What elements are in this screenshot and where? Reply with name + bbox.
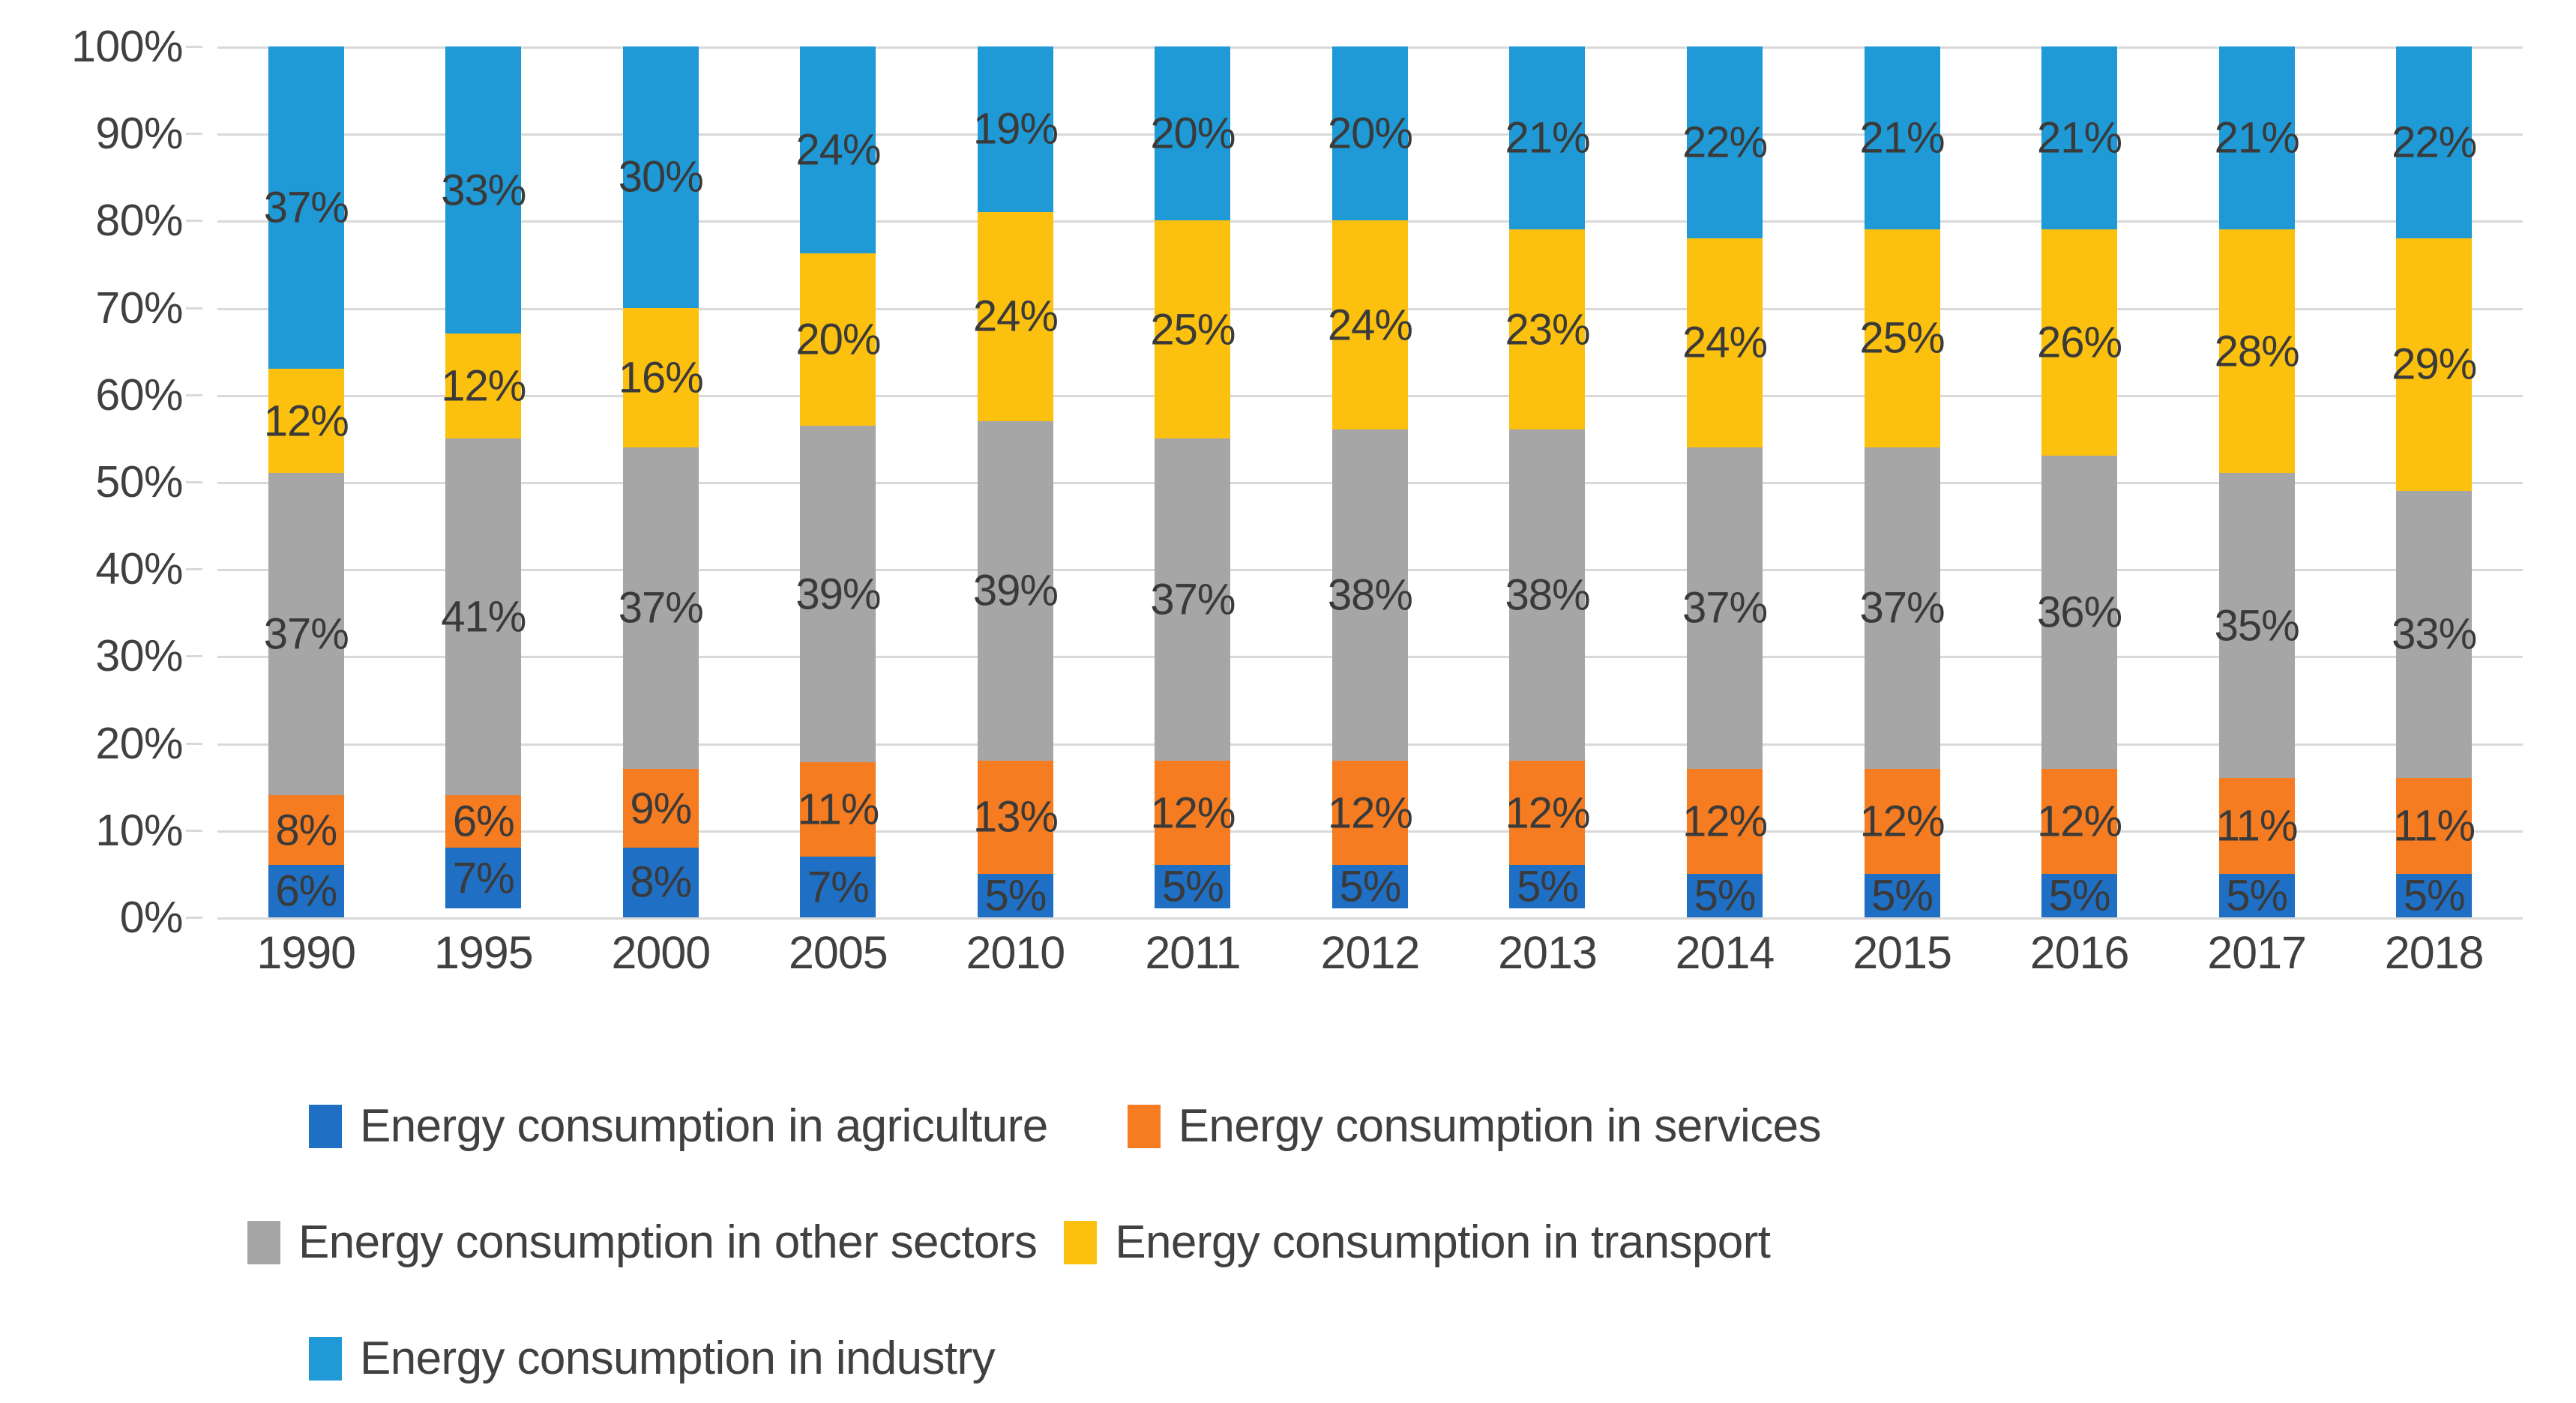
bar-segment-label: 12%	[441, 361, 526, 411]
bar-group[interactable]: 30%16%37%9%8%	[572, 46, 750, 917]
bar-group[interactable]: 33%12%41%6%7%	[395, 46, 573, 917]
y-axis-tick-mark	[186, 830, 202, 832]
bar-segment-label: 12%	[1682, 797, 1767, 847]
bar-segment[interactable]: 5%	[2041, 874, 2117, 917]
bar-segment[interactable]: 7%	[800, 857, 876, 917]
bar-segment[interactable]: 20%	[1332, 46, 1408, 220]
bar-group[interactable]: 22%24%37%12%5%	[1636, 46, 1814, 917]
bar-segment[interactable]: 37%	[1687, 447, 1763, 770]
bar-segment[interactable]: 12%	[1687, 769, 1763, 873]
bar-segment-label: 8%	[275, 805, 337, 855]
bar-segment[interactable]: 36%	[2041, 456, 2117, 769]
bar-segment[interactable]: 29%	[2396, 238, 2472, 491]
bar-segment[interactable]: 8%	[623, 848, 699, 917]
legend-item[interactable]: Energy consumption in services	[1128, 1099, 1821, 1153]
bar-segment-label: 25%	[1150, 304, 1235, 354]
y-axis-tick-mark	[186, 481, 202, 483]
bar-segment-label: 5%	[2049, 870, 2110, 920]
bar-group[interactable]: 20%25%37%12%5%	[1104, 46, 1282, 917]
legend-label: Energy consumption in agriculture	[360, 1099, 1048, 1153]
bar-segment[interactable]: 5%	[1332, 865, 1408, 908]
bar-segment-label: 7%	[807, 862, 869, 912]
bar-segment[interactable]: 25%	[1155, 220, 1230, 438]
bar-segment[interactable]: 35%	[2219, 473, 2295, 778]
bar-segment-label: 19%	[973, 104, 1058, 154]
bar-segment[interactable]: 5%	[1509, 865, 1585, 908]
bar-segment[interactable]: 39%	[978, 421, 1053, 761]
bar-segment[interactable]: 5%	[978, 874, 1053, 917]
bar-segment-label: 11%	[2393, 800, 2475, 851]
bar-segment-label: 11%	[797, 785, 879, 835]
bar-segment-label: 12%	[1328, 788, 1412, 838]
bar-segment[interactable]: 5%	[1155, 865, 1230, 908]
bar-segment[interactable]: 12%	[1865, 769, 1940, 873]
legend-label: Energy consumption in industry	[360, 1332, 995, 1385]
bar-segment-label: 7%	[453, 853, 514, 903]
y-axis-tick-label: 30%	[95, 630, 183, 681]
bar-segment[interactable]: 23%	[1509, 229, 1585, 429]
stacked-bar[interactable]: 22%24%37%12%5%	[1687, 46, 1763, 917]
bar-segment[interactable]: 11%	[800, 762, 876, 857]
bar-segment-label: 38%	[1328, 570, 1412, 621]
bar-segment-label: 8%	[630, 857, 691, 908]
y-axis-tick-mark	[186, 394, 202, 396]
y-axis-tick-label: 90%	[95, 108, 183, 159]
stacked-bar[interactable]: 22%29%33%11%5%	[2396, 46, 2472, 917]
bar-segment[interactable]: 16%	[623, 308, 699, 447]
x-axis-tick-label: 2010	[927, 926, 1104, 1001]
y-axis-tick-label: 20%	[95, 718, 183, 769]
legend-item[interactable]: Energy consumption in agriculture	[309, 1099, 1048, 1153]
x-axis-tick-label: 2014	[1636, 926, 1814, 1001]
bar-segment-label: 37%	[1150, 574, 1235, 624]
x-axis-tick-label: 2013	[1459, 926, 1637, 1001]
bar-segment[interactable]: 6%	[268, 865, 344, 917]
bar-segment-label: 22%	[1682, 117, 1767, 167]
y-axis-tick-mark	[186, 568, 202, 570]
bar-segment-label: 29%	[2392, 340, 2476, 390]
x-axis-tick-label: 2015	[1814, 926, 1991, 1001]
chart-legend: Energy consumption in agricultureEnergy …	[0, 1068, 2576, 1403]
bar-segment-label: 5%	[984, 870, 1046, 920]
bar-segment[interactable]: 19%	[978, 46, 1053, 212]
plot-area: 37%12%37%8%6%33%12%41%6%7%30%16%37%9%8%2…	[217, 46, 2523, 917]
legend-row: Energy consumption in other sectorsEnerg…	[0, 1184, 2576, 1300]
bar-segment[interactable]: 12%	[268, 369, 344, 473]
bar-segment[interactable]: 12%	[1332, 761, 1408, 865]
stacked-bar[interactable]: 20%24%38%12%5%	[1332, 46, 1408, 917]
bar-segment[interactable]: 21%	[2041, 46, 2117, 229]
bar-segment-label: 24%	[1682, 318, 1767, 368]
x-axis-tick-label: 1990	[217, 926, 395, 1001]
bar-segment[interactable]: 33%	[2396, 491, 2472, 778]
bar-group[interactable]: 21%23%38%12%5%	[1459, 46, 1637, 917]
legend-item[interactable]: Energy consumption in other sectors	[247, 1216, 1037, 1269]
stacked-bar[interactable]: 33%12%41%6%7%	[445, 46, 521, 917]
legend-row: Energy consumption in agricultureEnergy …	[0, 1068, 2576, 1184]
y-axis-tick-mark	[186, 307, 202, 310]
bar-segment[interactable]: 12%	[445, 334, 521, 438]
bar-segment[interactable]: 38%	[1332, 429, 1408, 761]
bar-segment[interactable]: 5%	[2396, 874, 2472, 917]
bar-segment-label: 39%	[973, 566, 1058, 616]
bar-segment[interactable]: 39%	[800, 426, 876, 762]
bar-segment-label: 20%	[1328, 109, 1412, 159]
bar-segment-label: 22%	[2392, 117, 2476, 167]
bar-segment-label: 36%	[2037, 588, 2122, 638]
x-axis-tick-label: 2012	[1281, 926, 1459, 1001]
y-axis-tick-label: 50%	[95, 456, 183, 507]
bar-segment-label: 5%	[1340, 862, 1401, 912]
bar-segment[interactable]: 25%	[1865, 229, 1940, 447]
bar-segment-label: 38%	[1505, 570, 1589, 621]
y-axis-tick-mark	[186, 655, 202, 657]
bar-segment[interactable]: 30%	[623, 46, 699, 308]
bar-segment-label: 20%	[1150, 109, 1235, 159]
bar-segment[interactable]: 24%	[978, 212, 1053, 421]
x-axis-tick-label: 2016	[1990, 926, 2168, 1001]
legend-row: Energy consumption in industry	[0, 1300, 2576, 1403]
bar-segment[interactable]: 24%	[1687, 238, 1763, 447]
bar-segment[interactable]: 37%	[268, 473, 344, 795]
bar-segment-label: 11%	[2216, 800, 2298, 851]
bar-segment[interactable]: 8%	[268, 795, 344, 865]
bar-segment-label: 35%	[2215, 600, 2299, 651]
bar-segment-label: 37%	[264, 609, 349, 660]
bar-segment-label: 21%	[2037, 113, 2122, 163]
bar-segment-label: 12%	[1505, 788, 1589, 838]
bar-segment[interactable]: 38%	[1509, 429, 1585, 761]
x-axis-tick-label: 2005	[750, 926, 927, 1001]
legend-color-swatch	[309, 1105, 342, 1148]
bar-segment-label: 5%	[1517, 862, 1578, 912]
bar-segment-label: 12%	[1860, 797, 1945, 847]
legend-label: Energy consumption in services	[1179, 1099, 1821, 1153]
bar-group[interactable]: 24%20%39%11%7%	[750, 46, 927, 917]
bar-segment-label: 24%	[1328, 300, 1412, 350]
y-axis-tick-mark	[186, 220, 202, 222]
bar-segment[interactable]: 21%	[2219, 46, 2295, 229]
bar-segment-label: 5%	[1871, 870, 1933, 920]
bar-segment-label: 5%	[2404, 870, 2465, 920]
bar-segment-label: 9%	[630, 783, 691, 833]
bar-segment-label: 12%	[264, 396, 349, 446]
bar-group[interactable]: 21%25%37%12%5%	[1814, 46, 1991, 917]
legend-color-swatch	[309, 1337, 342, 1381]
bar-segment[interactable]: 21%	[1865, 46, 1940, 229]
x-axis-tick-label: 2018	[2345, 926, 2523, 1001]
bar-segment[interactable]: 37%	[1155, 438, 1230, 761]
stacked-bar[interactable]: 21%23%38%12%5%	[1509, 46, 1585, 917]
bar-segment-label: 30%	[619, 152, 703, 202]
bar-segment-label: 13%	[973, 792, 1058, 842]
y-axis-tick-mark	[186, 133, 202, 135]
legend-color-swatch	[1128, 1105, 1161, 1148]
bar-segment-label: 37%	[264, 182, 349, 232]
stacked-bar[interactable]: 21%26%36%12%5%	[2041, 46, 2117, 917]
bar-segment[interactable]: 12%	[1509, 761, 1585, 865]
bar-segment-label: 20%	[795, 315, 880, 365]
bar-group[interactable]: 21%28%35%11%5%	[2168, 46, 2346, 917]
bar-group[interactable]: 21%26%36%12%5%	[1990, 46, 2168, 917]
bar-group[interactable]: 37%12%37%8%6%	[217, 46, 395, 917]
bar-group[interactable]: 22%29%33%11%5%	[2345, 46, 2523, 917]
bar-segment-label: 24%	[795, 125, 880, 175]
chart-canvas: 0%10%20%30%40%50%60%70%80%90%100% 37%12%…	[0, 0, 2576, 1403]
bar-segment[interactable]: 24%	[800, 46, 876, 253]
bar-segment-label: 33%	[2392, 609, 2476, 660]
bar-segment[interactable]: 12%	[1155, 761, 1230, 865]
y-axis-tick-label: 70%	[95, 283, 183, 334]
bar-segment[interactable]: 37%	[268, 46, 344, 369]
bar-segment[interactable]: 37%	[1865, 447, 1940, 770]
stacked-bar[interactable]: 37%12%37%8%6%	[268, 46, 344, 917]
bar-segment-label: 25%	[1860, 313, 1945, 363]
bar-segment[interactable]: 13%	[978, 761, 1053, 874]
stacked-bar[interactable]: 30%16%37%9%8%	[623, 46, 699, 917]
y-axis-tick-label: 10%	[95, 805, 183, 856]
bar-segment-label: 21%	[1860, 113, 1945, 163]
bar-group[interactable]: 20%24%38%12%5%	[1281, 46, 1459, 917]
bar-segment[interactable]: 9%	[623, 769, 699, 848]
bar-segment[interactable]: 5%	[1865, 874, 1940, 917]
bar-series-container: 37%12%37%8%6%33%12%41%6%7%30%16%37%9%8%2…	[217, 46, 2523, 917]
bar-segment[interactable]: 33%	[445, 46, 521, 334]
stacked-bar[interactable]: 24%20%39%11%7%	[800, 46, 876, 917]
bar-segment-label: 24%	[973, 292, 1058, 342]
x-axis-tick-label: 1995	[395, 926, 573, 1001]
bar-segment[interactable]: 24%	[1332, 220, 1408, 429]
y-axis-tick-label: 0%	[120, 892, 183, 943]
bar-segment[interactable]: 22%	[2396, 46, 2472, 238]
x-axis: 1990199520002005201020112012201320142015…	[217, 926, 2523, 1001]
y-axis-tick-mark	[186, 917, 202, 919]
bar-segment[interactable]: 7%	[445, 848, 521, 908]
legend-label: Energy consumption in transport	[1115, 1216, 1770, 1269]
bar-segment[interactable]: 26%	[2041, 229, 2117, 456]
bar-segment[interactable]: 12%	[2041, 769, 2117, 873]
bar-segment-label: 12%	[2037, 797, 2122, 847]
bar-segment-label: 28%	[2215, 326, 2299, 376]
bar-segment-label: 33%	[441, 165, 526, 215]
bar-segment-label: 21%	[1505, 113, 1589, 163]
bar-segment-label: 37%	[619, 583, 703, 633]
bar-segment[interactable]: 5%	[1687, 874, 1763, 917]
bar-segment-label: 6%	[275, 866, 337, 917]
y-axis: 0%10%20%30%40%50%60%70%80%90%100%	[0, 46, 202, 917]
legend-item[interactable]: Energy consumption in transport	[1064, 1216, 1770, 1269]
bar-segment[interactable]: 5%	[2219, 874, 2295, 917]
stacked-bar[interactable]: 20%25%37%12%5%	[1155, 46, 1230, 917]
bar-segment-label: 6%	[453, 797, 514, 847]
bar-segment[interactable]: 11%	[2396, 778, 2472, 874]
bar-segment[interactable]: 37%	[623, 447, 699, 770]
bar-segment[interactable]: 28%	[2219, 229, 2295, 473]
gridline	[217, 917, 2523, 920]
legend-color-swatch	[247, 1221, 280, 1264]
y-axis-tick-mark	[186, 46, 202, 48]
bar-segment[interactable]: 22%	[1687, 46, 1763, 238]
bar-segment-label: 12%	[1150, 788, 1235, 838]
bar-segment-label: 41%	[441, 592, 526, 642]
bar-segment-label: 5%	[1162, 862, 1224, 912]
legend-item[interactable]: Energy consumption in industry	[309, 1332, 995, 1385]
x-axis-tick-label: 2017	[2168, 926, 2346, 1001]
bar-group[interactable]: 19%24%39%13%5%	[927, 46, 1104, 917]
legend-color-swatch	[1064, 1221, 1097, 1264]
stacked-bar[interactable]: 19%24%39%13%5%	[978, 46, 1053, 917]
legend-label: Energy consumption in other sectors	[298, 1216, 1037, 1269]
bar-segment-label: 37%	[1860, 583, 1945, 633]
bar-segment-label: 5%	[1694, 870, 1756, 920]
y-axis-tick-label: 40%	[95, 543, 183, 594]
bar-segment-label: 16%	[619, 352, 703, 402]
x-axis-tick-label: 2000	[572, 926, 750, 1001]
bar-segment-label: 39%	[795, 569, 880, 619]
y-axis-tick-label: 60%	[95, 369, 183, 420]
bar-segment[interactable]: 20%	[1155, 46, 1230, 220]
stacked-bar[interactable]: 21%25%37%12%5%	[1865, 46, 1940, 917]
x-axis-tick-label: 2011	[1104, 926, 1282, 1001]
y-axis-tick-mark	[186, 743, 202, 745]
bar-segment[interactable]: 41%	[445, 438, 521, 795]
bar-segment-label: 23%	[1505, 304, 1589, 354]
stacked-bar[interactable]: 21%28%35%11%5%	[2219, 46, 2295, 917]
bar-segment-label: 21%	[2215, 113, 2299, 163]
bar-segment[interactable]: 20%	[800, 253, 876, 426]
bar-segment[interactable]: 11%	[2219, 778, 2295, 874]
bar-segment-label: 37%	[1682, 583, 1767, 633]
bar-segment-label: 26%	[2037, 318, 2122, 368]
y-axis-tick-label: 100%	[71, 21, 183, 72]
bar-segment[interactable]: 21%	[1509, 46, 1585, 229]
bar-segment[interactable]: 6%	[445, 795, 521, 848]
y-axis-tick-label: 80%	[95, 195, 183, 246]
bar-segment-label: 5%	[2226, 870, 2287, 920]
